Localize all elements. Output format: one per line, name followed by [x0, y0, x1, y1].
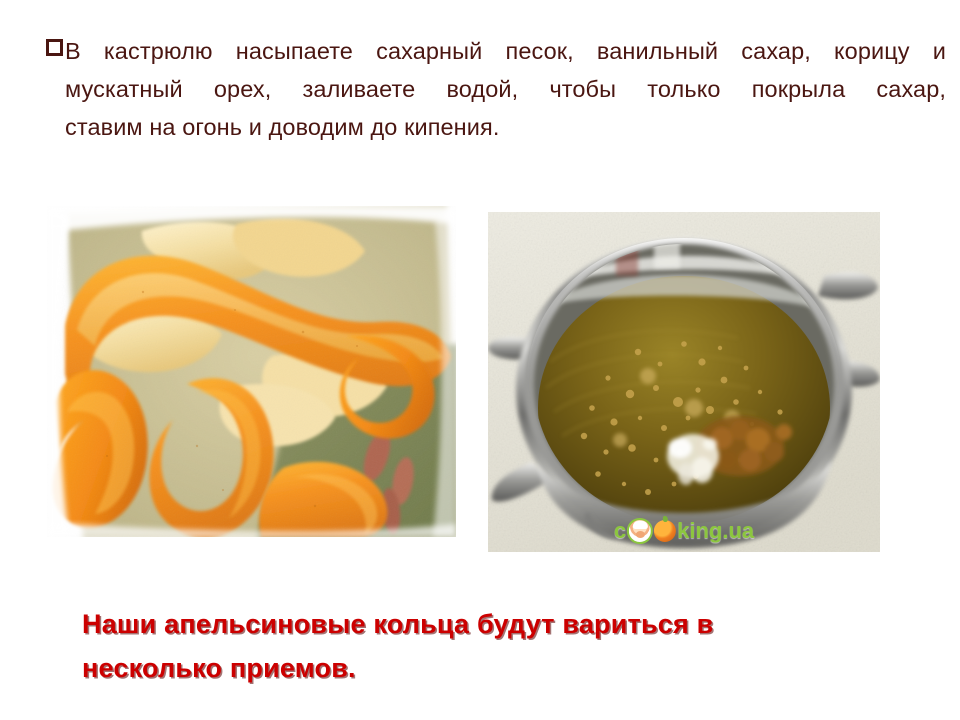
bullet-line-2: мускатный орех, заливаете водой, чтобы т…	[65, 70, 946, 108]
red-caption: Наши апельсиновые кольца будут вариться …	[82, 602, 842, 690]
caption-line-1: Наши апельсиновые кольца будут вариться …	[82, 602, 842, 646]
saucepan-photo: c king.ua	[488, 212, 880, 552]
bullet-line-3: ставим на огонь и доводим до кипения.	[65, 108, 946, 146]
caption-line-2: несколько приемов.	[82, 646, 842, 690]
saucepan-image	[488, 212, 880, 552]
bullet-paragraph-text: В кастрюлю насыпаете сахарный песок, ван…	[65, 32, 946, 146]
bullet-line-1: В кастрюлю насыпаете сахарный песок, ван…	[65, 32, 946, 70]
bullet-paragraph: В кастрюлю насыпаете сахарный песок, ван…	[46, 32, 946, 146]
orange-peels-image	[47, 206, 456, 537]
hollow-square-bullet-icon	[46, 39, 63, 56]
orange-peels-photo	[47, 206, 456, 537]
